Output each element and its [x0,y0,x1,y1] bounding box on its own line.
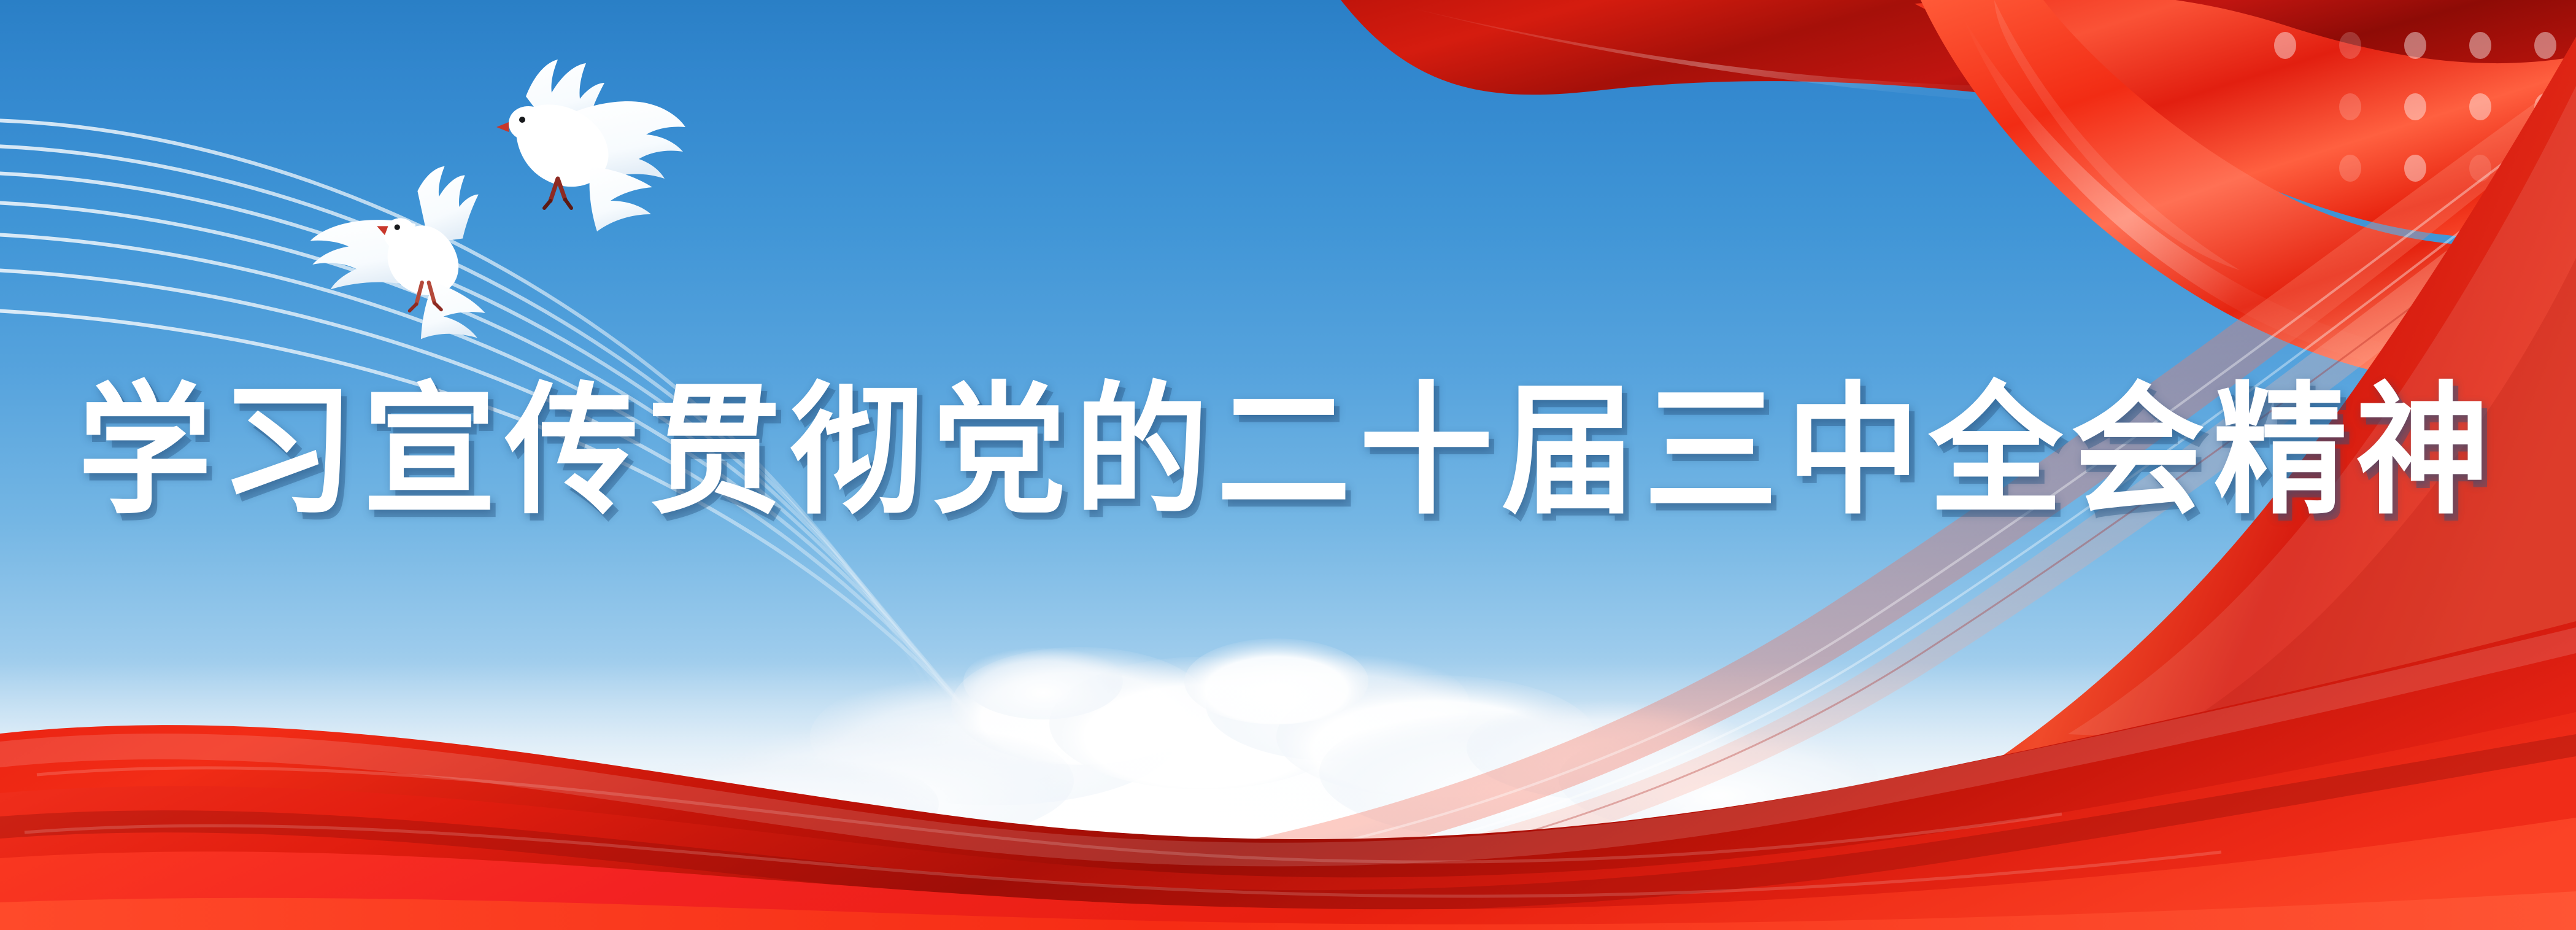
banner-root: 学习宣传贯彻党的二十届三中全会精神 [0,0,2576,930]
red-waves-decor [0,0,2576,930]
